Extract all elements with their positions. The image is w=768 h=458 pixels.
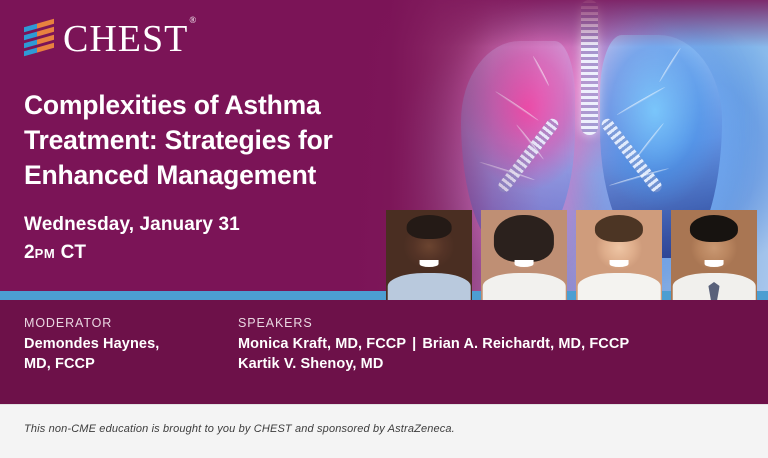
headline-block: Complexities of Asthma Treatment: Strate… (24, 88, 404, 194)
event-time-meridiem: PM (35, 246, 56, 261)
headshot-1 (386, 210, 472, 300)
speaker-names: Monica Kraft, MD, FCCP|Brian A. Reichard… (238, 334, 758, 374)
sponsor-disclaimer: This non-CME education is brought to you… (24, 423, 455, 435)
speakers-label: SPEAKERS (238, 316, 758, 330)
event-time-number: 2 (24, 242, 35, 263)
credits-section: MODERATOR Demondes Haynes, MD, FCCP SPEA… (0, 300, 768, 404)
speaker-name-2: Brian A. Reichardt, MD, FCCP (422, 336, 629, 352)
speaker-name-3: Kartik V. Shenoy, MD (238, 356, 383, 372)
event-date: Wednesday, January 31 (24, 212, 240, 238)
speaker-name-1: Monica Kraft, MD, FCCP (238, 336, 406, 352)
title-line-1: Complexities of Asthma (24, 90, 320, 120)
chest-wordmark: CHEST® (63, 20, 196, 58)
webinar-promo-banner: CHEST® Complexities of Asthma Treatment:… (0, 0, 768, 458)
headshot-4 (671, 210, 757, 300)
chest-logo[interactable]: CHEST® (24, 20, 196, 58)
headshot-3 (576, 210, 662, 300)
page-title: Complexities of Asthma Treatment: Strate… (24, 88, 404, 194)
speaker-separator: | (406, 336, 422, 352)
event-time-zone: CT (61, 242, 87, 263)
chest-stripes-logo-icon (24, 21, 54, 57)
title-line-2: Treatment: Strategies for (24, 125, 333, 155)
title-line-3: Enhanced Management (24, 160, 316, 190)
event-time: 2PM CT (24, 240, 240, 266)
footer-section: This non-CME education is brought to you… (0, 404, 768, 458)
speakers-column: SPEAKERS Monica Kraft, MD, FCCP|Brian A.… (238, 316, 758, 374)
moderator-name-line-1: Demondes Haynes, (24, 336, 159, 352)
moderator-column: MODERATOR Demondes Haynes, MD, FCCP (24, 316, 224, 374)
moderator-label: MODERATOR (24, 316, 224, 330)
headshot-2 (481, 210, 567, 300)
moderator-names: Demondes Haynes, MD, FCCP (24, 334, 224, 374)
registered-trademark-icon: ® (189, 15, 197, 25)
event-datetime: Wednesday, January 31 2PM CT (24, 212, 240, 265)
chest-wordmark-text: CHEST (63, 18, 188, 60)
moderator-name-line-2: MD, FCCP (24, 356, 95, 372)
speaker-headshot-row (386, 210, 757, 300)
